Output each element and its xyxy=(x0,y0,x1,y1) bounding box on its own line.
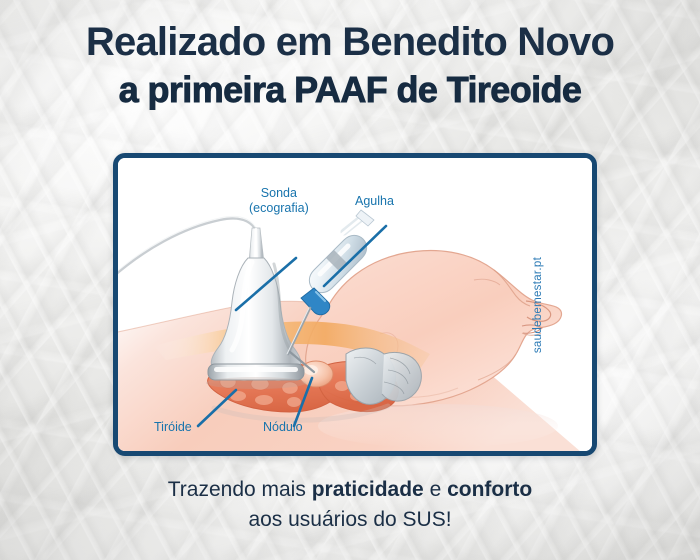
poster-canvas: Realizado em Benedito Novo a primeira PA… xyxy=(0,0,700,560)
label-nodulo: Nódulo xyxy=(263,420,303,435)
footer-line1-part1: Trazendo mais xyxy=(168,478,312,501)
label-tiroide-line1: Tiróide xyxy=(154,420,192,435)
label-nodulo-line1: Nódulo xyxy=(263,420,303,435)
label-agulha-line1: Agulha xyxy=(355,194,394,209)
heading-line-1: Realizado em Benedito Novo xyxy=(0,22,700,64)
watermark-text: saudebemestar.pt xyxy=(532,256,544,352)
label-sonda: Sonda (ecografia) xyxy=(249,186,309,216)
label-sonda-line2: (ecografia) xyxy=(249,201,309,216)
footer-line1-bold2: conforto xyxy=(447,478,532,501)
label-agulha: Agulha xyxy=(355,194,394,209)
footer-line1-part2: e xyxy=(424,478,447,501)
label-sonda-line1: Sonda xyxy=(249,186,309,201)
label-tiroide: Tiróide xyxy=(154,420,192,435)
illustration-artwork: Sonda (ecografia) Agulha Tiróide Nódulo … xyxy=(118,158,592,451)
heading-block: Realizado em Benedito Novo a primeira PA… xyxy=(0,22,700,109)
trachea-cartilage xyxy=(346,348,421,404)
heading-line-2: a primeira PAAF de Tireoide xyxy=(0,70,700,110)
footer-block: Trazendo mais praticidade e conforto aos… xyxy=(0,475,700,535)
footer-line1-bold1: praticidade xyxy=(312,478,424,501)
footer-line2: aos usuários do SUS! xyxy=(0,505,700,535)
illustration-frame: Sonda (ecografia) Agulha Tiróide Nódulo … xyxy=(113,153,597,456)
probe-cable xyxy=(118,218,256,276)
